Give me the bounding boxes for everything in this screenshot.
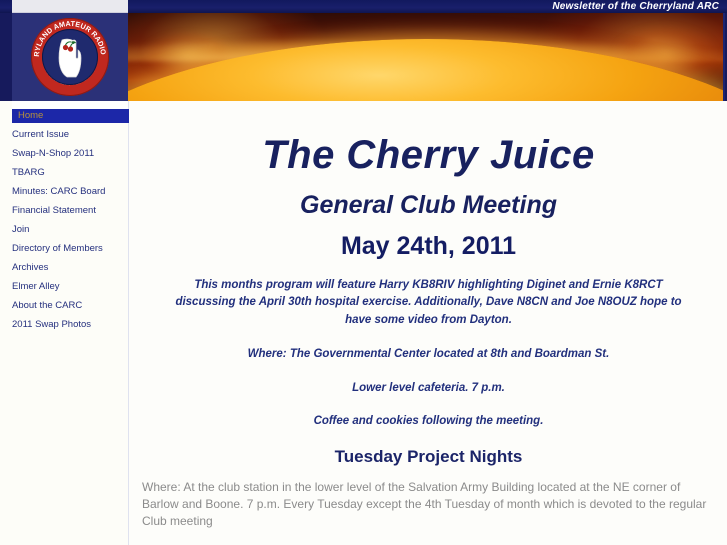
sidebar-navigation: Home Current Issue Swap-N-Shop 2011 TBAR…: [0, 101, 129, 545]
site-banner: Newsletter of the Cherryland ARC CHERRYL…: [0, 0, 727, 101]
sidebar-item-tbarg[interactable]: TBARG: [0, 166, 128, 180]
page-subtitle: General Club Meeting: [130, 192, 727, 220]
meeting-location: Where: The Governmental Center located a…: [150, 346, 707, 362]
meeting-refreshments: Coffee and cookies following the meeting…: [150, 413, 707, 429]
sidebar-item-2011-swap-photos[interactable]: 2011 Swap Photos: [0, 318, 128, 332]
sun-banner-image: [128, 13, 725, 101]
sidebar-item-minutes-carc-board[interactable]: Minutes: CARC Board: [0, 185, 128, 199]
meeting-date: May 24th, 2011: [130, 233, 727, 261]
michigan-mitten-with-cherries-icon: [55, 37, 85, 79]
page-title: The Cherry Juice: [130, 134, 727, 176]
project-nights-details: Where: At the club station in the lower …: [142, 479, 715, 530]
sidebar-item-join[interactable]: Join: [0, 223, 128, 237]
logo-inner-disc: [42, 29, 98, 85]
sidebar-item-elmer-alley[interactable]: Elmer Alley: [0, 280, 128, 294]
main-content: The Cherry Juice General Club Meeting Ma…: [130, 101, 727, 545]
meeting-room-and-time: Lower level cafeteria. 7 p.m.: [150, 380, 707, 396]
sidebar-item-about-the-carc[interactable]: About the CARC: [0, 299, 128, 313]
sidebar-item-financial-statement[interactable]: Financial Statement: [0, 204, 128, 218]
club-logo-panel: CHERRYLAND AMATEUR RADIO CLUB TRAVERSE C…: [12, 13, 128, 101]
newsletter-tagline: Newsletter of the Cherryland ARC: [552, 0, 719, 13]
sidebar-item-current-issue[interactable]: Current Issue: [0, 128, 128, 142]
sidebar-top-spacer: [12, 101, 128, 109]
logo-panel-top-spacer: [12, 0, 128, 13]
banner-right-edge: [723, 13, 725, 101]
project-nights-heading: Tuesday Project Nights: [130, 447, 727, 467]
sidebar-item-directory-of-members[interactable]: Directory of Members: [0, 242, 128, 256]
cherryland-arc-club-emblem-icon[interactable]: CHERRYLAND AMATEUR RADIO CLUB TRAVERSE C…: [31, 18, 109, 96]
program-description: This months program will feature Harry K…: [166, 277, 691, 329]
sidebar-item-home[interactable]: Home: [12, 109, 129, 123]
sidebar-item-archives[interactable]: Archives: [0, 261, 128, 275]
sidebar-item-swap-n-shop-2011[interactable]: Swap-N-Shop 2011: [0, 147, 128, 161]
